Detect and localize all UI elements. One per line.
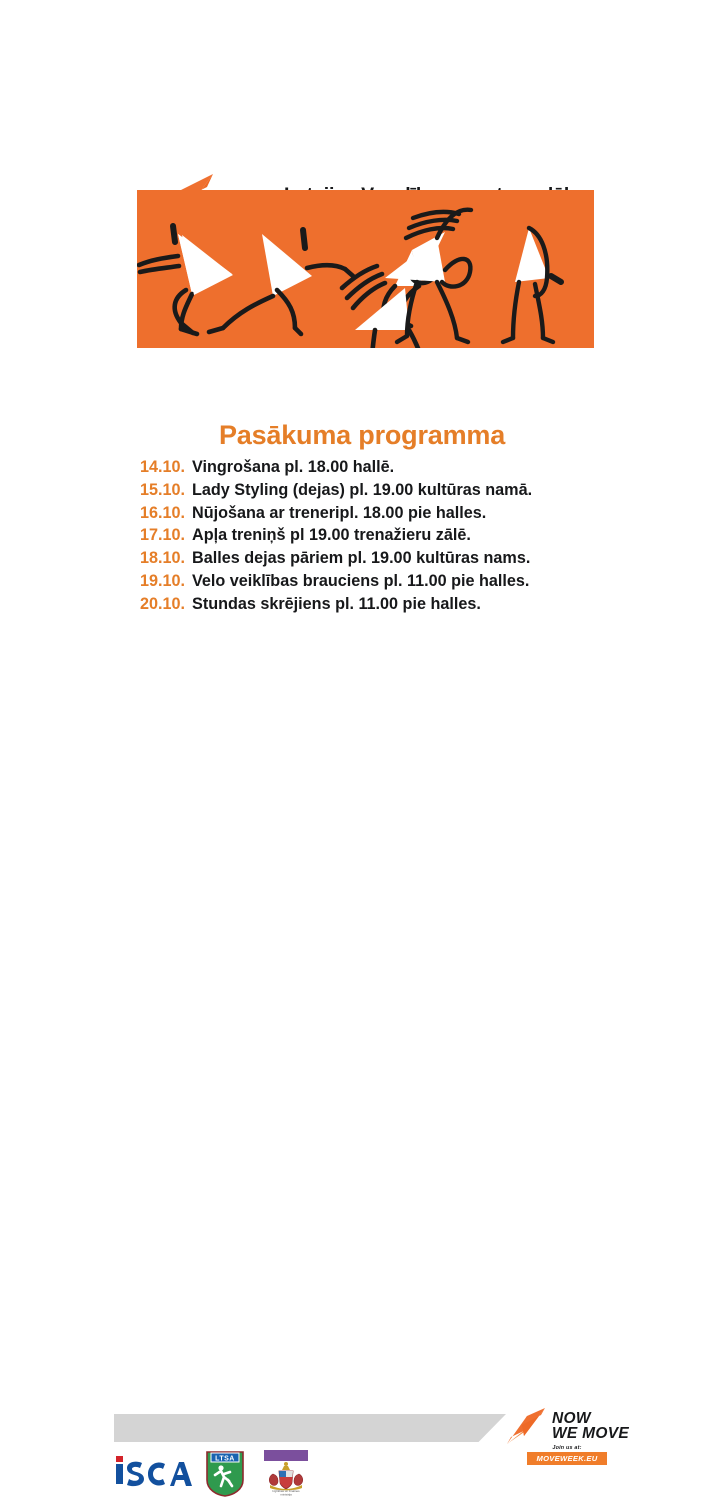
moveweek-badge: Join us at: MOVEWEEK.EU bbox=[527, 1445, 607, 1465]
hero-banner bbox=[137, 190, 594, 348]
partner-logos: LTSA bbox=[114, 1448, 314, 1498]
item-text: Apļa treniņš pl 19.00 trenažieru zālē. bbox=[192, 524, 471, 547]
list-item: 15.10. Lady Styling (dejas) pl. 19.00 ku… bbox=[140, 479, 724, 502]
programme-section: Pasākuma programma 14.10. Vingrošana pl.… bbox=[0, 420, 724, 616]
poster-page: Latvijas Veselības sporta nedēļa 14.10.2… bbox=[0, 0, 724, 1024]
footer-gray-band bbox=[114, 1414, 506, 1442]
programme-list: 14.10. Vingrošana pl. 18.00 hallē. 15.10… bbox=[0, 456, 724, 616]
item-date: 15.10. bbox=[140, 479, 185, 502]
list-item: 14.10. Vingrošana pl. 18.00 hallē. bbox=[140, 456, 724, 479]
moveweek-url: MOVEWEEK.EU bbox=[527, 1452, 607, 1465]
list-item: 18.10. Balles dejas pāriem pl. 19.00 kul… bbox=[140, 547, 724, 570]
programme-heading: Pasākuma programma bbox=[0, 420, 724, 451]
now-we-move-arrow-icon bbox=[505, 1406, 547, 1446]
item-text: Vingrošana pl. 18.00 hallē. bbox=[192, 456, 394, 479]
item-date: 19.10. bbox=[140, 570, 185, 593]
nwm-line-1: NOW bbox=[552, 1411, 629, 1426]
item-text: Nūjošana ar treneripl. 18.00 pie halles. bbox=[192, 502, 486, 525]
list-item: 16.10. Nūjošana ar treneripl. 18.00 pie … bbox=[140, 502, 724, 525]
item-date: 16.10. bbox=[140, 502, 185, 525]
item-date: 17.10. bbox=[140, 524, 185, 547]
nwm-line-2: WE MOVE bbox=[552, 1426, 629, 1441]
item-date: 20.10. bbox=[140, 593, 185, 616]
item-text: Lady Styling (dejas) pl. 19.00 kultūras … bbox=[192, 479, 532, 502]
poster-footer: LTSA bbox=[0, 700, 724, 810]
latvia-ministry-logo: Izglītības un zinātnes ministrija bbox=[258, 1448, 314, 1498]
svg-text:LTSA: LTSA bbox=[215, 1455, 235, 1462]
list-item: 17.10. Apļa treniņš pl 19.00 trenažieru … bbox=[140, 524, 724, 547]
stick-figures-illustration bbox=[137, 190, 594, 348]
isca-logo bbox=[114, 1454, 192, 1494]
ltsa-logo: LTSA bbox=[204, 1448, 246, 1498]
now-we-move-wordmark: NOW WE MOVE bbox=[552, 1411, 629, 1441]
poster-header: Latvijas Veselības sporta nedēļa 14.10.2… bbox=[0, 84, 724, 164]
list-item: 19.10. Velo veiklības brauciens pl. 11.0… bbox=[140, 570, 724, 593]
item-date: 18.10. bbox=[140, 547, 185, 570]
list-item: 20.10. Stundas skrējiens pl. 11.00 pie h… bbox=[140, 593, 724, 616]
item-text: Stundas skrējiens pl. 11.00 pie halles. bbox=[192, 593, 481, 616]
item-date: 14.10. bbox=[140, 456, 185, 479]
now-we-move-logo: NOW WE MOVE bbox=[505, 1406, 629, 1446]
join-us-label: Join us at: bbox=[527, 1445, 607, 1451]
item-text: Velo veiklības brauciens pl. 11.00 pie h… bbox=[192, 570, 529, 593]
item-text: Balles dejas pāriem pl. 19.00 kultūras n… bbox=[192, 547, 530, 570]
svg-text:ministrija: ministrija bbox=[280, 1492, 292, 1496]
